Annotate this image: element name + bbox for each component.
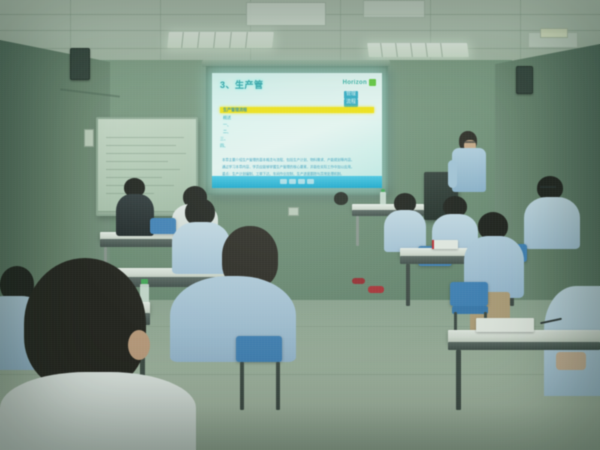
chair-seat <box>452 306 488 314</box>
chair-leg <box>276 362 280 410</box>
student-torso <box>524 197 580 249</box>
slide-accent-bar: 生产管理流程 <box>220 107 374 113</box>
presentation-slide: 3、生产管 Horizon 管理 流程 生产管理流程 概述 一、 二、 三、 四… <box>212 73 382 188</box>
projection-screen[interactable]: 3、生产管 Horizon 管理 流程 生产管理流程 概述 一、 二、 三、 四… <box>206 66 388 195</box>
slide-bullet: 四、 <box>220 144 228 148</box>
presenter-arm <box>448 160 457 188</box>
slide-logo-mark <box>369 79 376 86</box>
slide-logo-text: Horizon <box>343 80 367 86</box>
slide-logo: Horizon <box>343 79 376 86</box>
bottle-cap <box>381 189 385 192</box>
chair[interactable] <box>236 336 282 362</box>
slide-badge: 管理 <box>344 91 358 99</box>
slide-bullet: 概述 <box>223 116 231 120</box>
slide-accent-label: 生产管理流程 <box>223 107 247 113</box>
ceiling-light-small <box>540 28 568 38</box>
slide-bullet: 二、 <box>223 130 231 134</box>
slide-paragraph: 本章主要介绍生产管理的基本概念与流程，包括生产计划、物料需求、产能规划等内容。 <box>222 158 372 163</box>
bottle-cap <box>141 279 148 284</box>
slide-bullet: 三、 <box>220 137 228 141</box>
slide-paragraph: 通过学习本章内容，学员应能够掌握生产管理的核心要素，并能在实际工作中加以应用。 <box>222 165 372 170</box>
light-switch-plate[interactable] <box>84 129 94 147</box>
student-torso-foreground <box>0 372 196 450</box>
water-bottle[interactable] <box>380 192 386 205</box>
slide-bullet: 一、 <box>223 123 231 127</box>
desk-leg <box>356 216 359 246</box>
chair[interactable] <box>450 282 488 306</box>
glasses-icon <box>540 186 556 188</box>
ceiling-light-fixture <box>167 32 274 48</box>
chair-leg <box>240 362 244 410</box>
desk-leg <box>406 264 410 306</box>
wall-speaker-right <box>516 66 533 94</box>
glasses-icon <box>464 141 476 143</box>
student-arm <box>556 352 586 370</box>
notebook[interactable] <box>476 318 534 332</box>
presenter-torso <box>452 148 486 192</box>
slide-title: 3、生产管 <box>220 78 264 91</box>
desk-leg <box>456 350 461 410</box>
desk-front-panel <box>448 342 600 350</box>
slide-badge: 流程 <box>344 99 358 107</box>
wall-speaker-left <box>70 48 90 80</box>
ceiling-panel <box>363 0 425 18</box>
ceiling-panel <box>246 2 326 26</box>
student-head <box>334 192 348 205</box>
student-ear <box>128 330 150 360</box>
shoe <box>368 286 384 293</box>
wall-outlet[interactable] <box>288 207 299 216</box>
chair[interactable] <box>150 218 176 234</box>
shoe <box>352 278 365 284</box>
classroom-photo: 3、生产管 Horizon 管理 流程 生产管理流程 概述 一、 二、 三、 四… <box>0 0 600 450</box>
student-head-foreground <box>24 258 146 390</box>
slide-footer-bar <box>212 176 382 188</box>
ceiling-light-fixture <box>367 43 469 57</box>
student-torso <box>116 194 154 236</box>
notebook[interactable] <box>432 240 458 249</box>
